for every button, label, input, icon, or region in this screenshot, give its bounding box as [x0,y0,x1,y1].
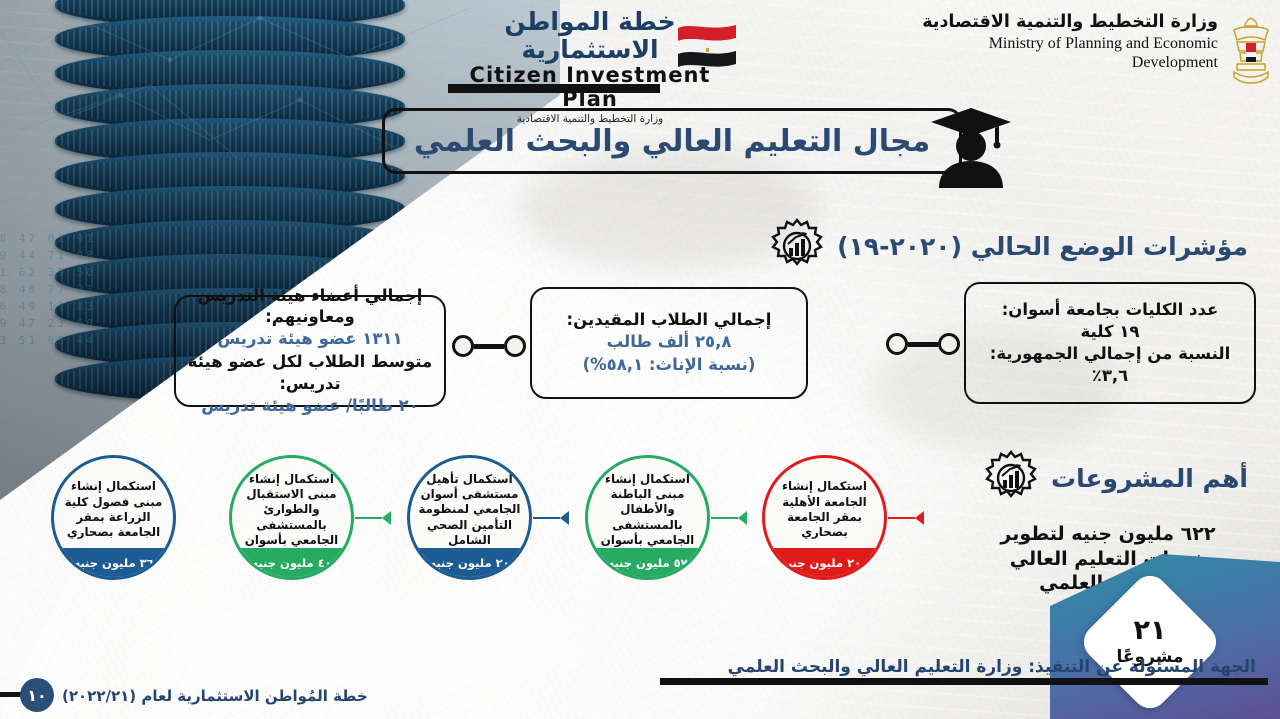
indicator-line: ٢٥,٨ ألف طالب [607,331,732,354]
plan-footer-text: خطة المُواطن الاستثمارية لعام (٢٠٢٢/٢١) [62,687,368,705]
project-amount: ٣٦ مليون جنيه [54,548,173,577]
connector-dot [938,333,960,355]
indicator-line: ١٩ كلية [1081,321,1140,343]
flow-arrow [533,511,569,525]
citizen-investment-plan-logo: خطة المواطن الاستثمارية Citizen Investme… [440,8,740,96]
egypt-flag-icon [676,22,738,70]
indicator-line: إجمالي أعضاء هيئة التدريس ومعاونيهم: [186,285,434,329]
flow-arrow [888,511,924,525]
responsible-entity-text: الجهة المسئولة عن التنفيذ: وزارة التعليم… [728,657,1256,677]
gear-chart-icon [983,450,1039,506]
flow-arrow [711,511,747,525]
logo-underline-bar [448,84,660,93]
project-amount: ٢٠٠ مليون جنيه [765,548,884,577]
flow-arrow [355,511,391,525]
indicators-heading-text: مؤشرات الوضع الحالي (٢٠٢٠-١٩) [837,232,1248,261]
indicator-card: إجمالي الطلاب المقيدين: ٢٥,٨ ألف طالب (ن… [530,287,808,399]
indicator-card: إجمالي أعضاء هيئة التدريس ومعاونيهم: ١٣١… [174,295,446,407]
footer-rule [660,678,1268,685]
gear-chart-icon [769,218,825,274]
indicator-line: (نسبة الإناث: ٥٨,١%) [583,354,756,377]
ministry-english-name: Ministry of Planning and Economic Develo… [908,34,1218,72]
project-circle: استكمال إنشاء مبنى الباطنة والأطفال بالم… [585,455,710,580]
project-text: استكمال إنشاء الجامعة الأهلية بمقر الجام… [772,474,877,546]
indicator-line: النسبة من إجمالي الجمهورية: [990,343,1230,365]
project-amount: ٥٧ مليون جنيه [588,548,707,577]
infographic-page: 18 47 02 91 19 44 71 08 11 62 39 50 18 4… [0,0,1280,719]
eagle-emblem-icon [1228,14,1274,88]
indicators-section-heading: مؤشرات الوضع الحالي (٢٠٢٠-١٩) [769,218,1248,274]
paper-smudge [160,600,580,690]
graduate-student-icon [925,104,1017,188]
project-amount: ٢٠ مليون جنيه [410,548,529,577]
connector-dot [886,333,908,355]
indicator-card: عدد الكليات بجامعة أسوان: ١٩ كلية النسبة… [964,282,1256,404]
logo-subtitle: وزارة التخطيط والتنمية الاقتصادية [440,113,740,125]
project-amount: ٤٠ مليون جنيه [232,548,351,577]
indicator-line: عدد الكليات بجامعة أسوان: [1002,299,1219,321]
project-count-number: ٢١ [1134,617,1167,644]
connector-dot [452,335,474,357]
project-circle: استكمال إنشاء مبنى الاستقبال والطوارئ با… [229,455,354,580]
project-text: استكمال إنشاء مبنى فصول كلية الزراعة بمق… [61,474,166,546]
indicator-line: إجمالي الطلاب المقيدين: [567,309,772,331]
indicator-line: ٣,٦٪ [1092,365,1129,387]
ministry-header: وزارة التخطيط والتنمية الاقتصادية Minist… [908,12,1218,72]
indicator-line: متوسط الطلاب لكل عضو هيئة تدريس: [186,351,434,395]
project-text: استكمال إنشاء مبنى الاستقبال والطوارئ با… [239,474,344,546]
project-circle: استكمال تأهيل مستشفى أسوان الجامعي لمنظو… [407,455,532,580]
connector-dot [504,335,526,357]
project-circle: استكمال إنشاء الجامعة الأهلية بمقر الجام… [762,455,887,580]
page-number: ١٠ [20,678,54,712]
indicator-line: ١٣١١ عضو هيئة تدريس [217,328,402,351]
connector-bar [474,344,504,349]
indicator-line: ٢٠ طالبًا/ عضو هيئة تدريس [201,395,419,418]
connector-bar [908,342,938,347]
projects-heading-text: أهم المشروعات [1051,464,1248,493]
ministry-arabic-name: وزارة التخطيط والتنمية الاقتصادية [908,12,1218,34]
project-text: استكمال إنشاء مبنى الباطنة والأطفال بالم… [595,474,700,546]
project-text: استكمال تأهيل مستشفى أسوان الجامعي لمنظو… [417,474,522,546]
project-circle: استكمال إنشاء مبنى فصول كلية الزراعة بمق… [51,455,176,580]
card-connector [452,335,526,357]
card-connector [886,333,960,355]
